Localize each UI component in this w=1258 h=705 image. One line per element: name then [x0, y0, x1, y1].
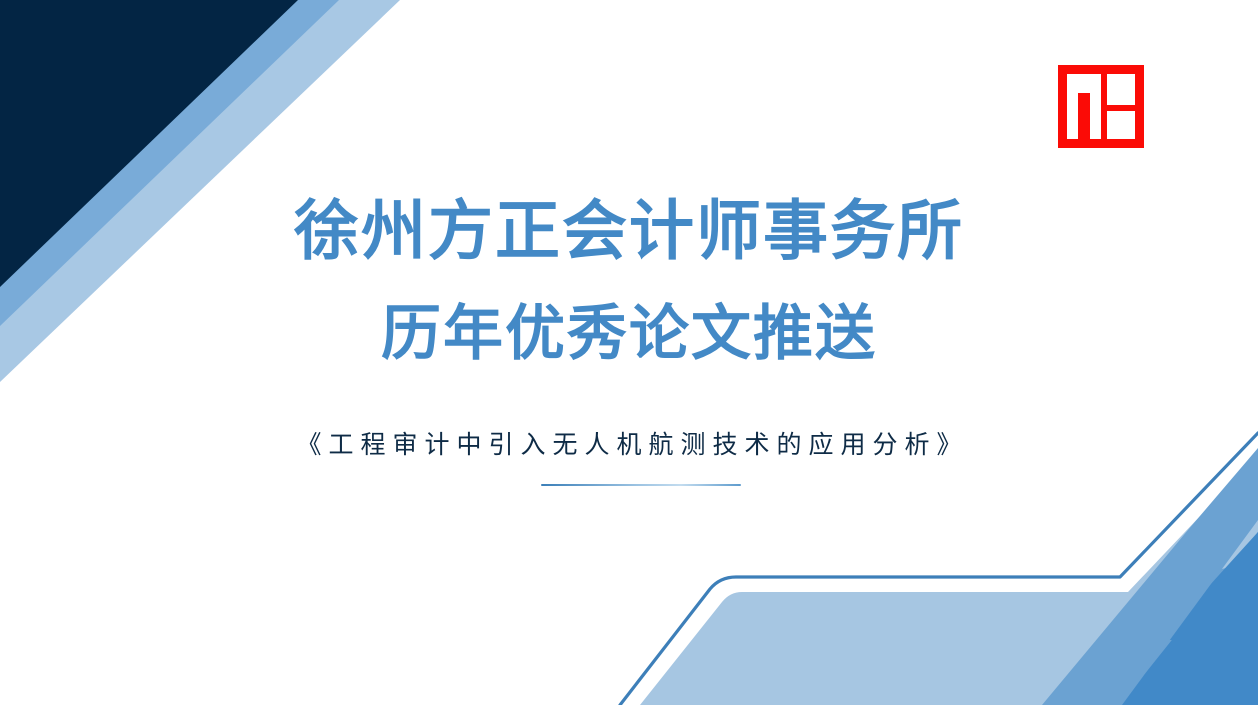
slide-title-line-2: 历年优秀论文推送 [0, 297, 1258, 371]
title-slide: 徐州方正会计师事务所 历年优秀论文推送 《工程审计中引入无人机航测技术的应用分析… [0, 0, 1258, 705]
slide-subtitle: 《工程审计中引入无人机航测技术的应用分析》 [0, 427, 1258, 463]
slide-title-line-1: 徐州方正会计师事务所 [0, 191, 1258, 271]
title-text-block: 徐州方正会计师事务所 历年优秀论文推送 《工程审计中引入无人机航测技术的应用分析… [0, 0, 1258, 705]
subtitle-divider-rule [541, 484, 741, 486]
